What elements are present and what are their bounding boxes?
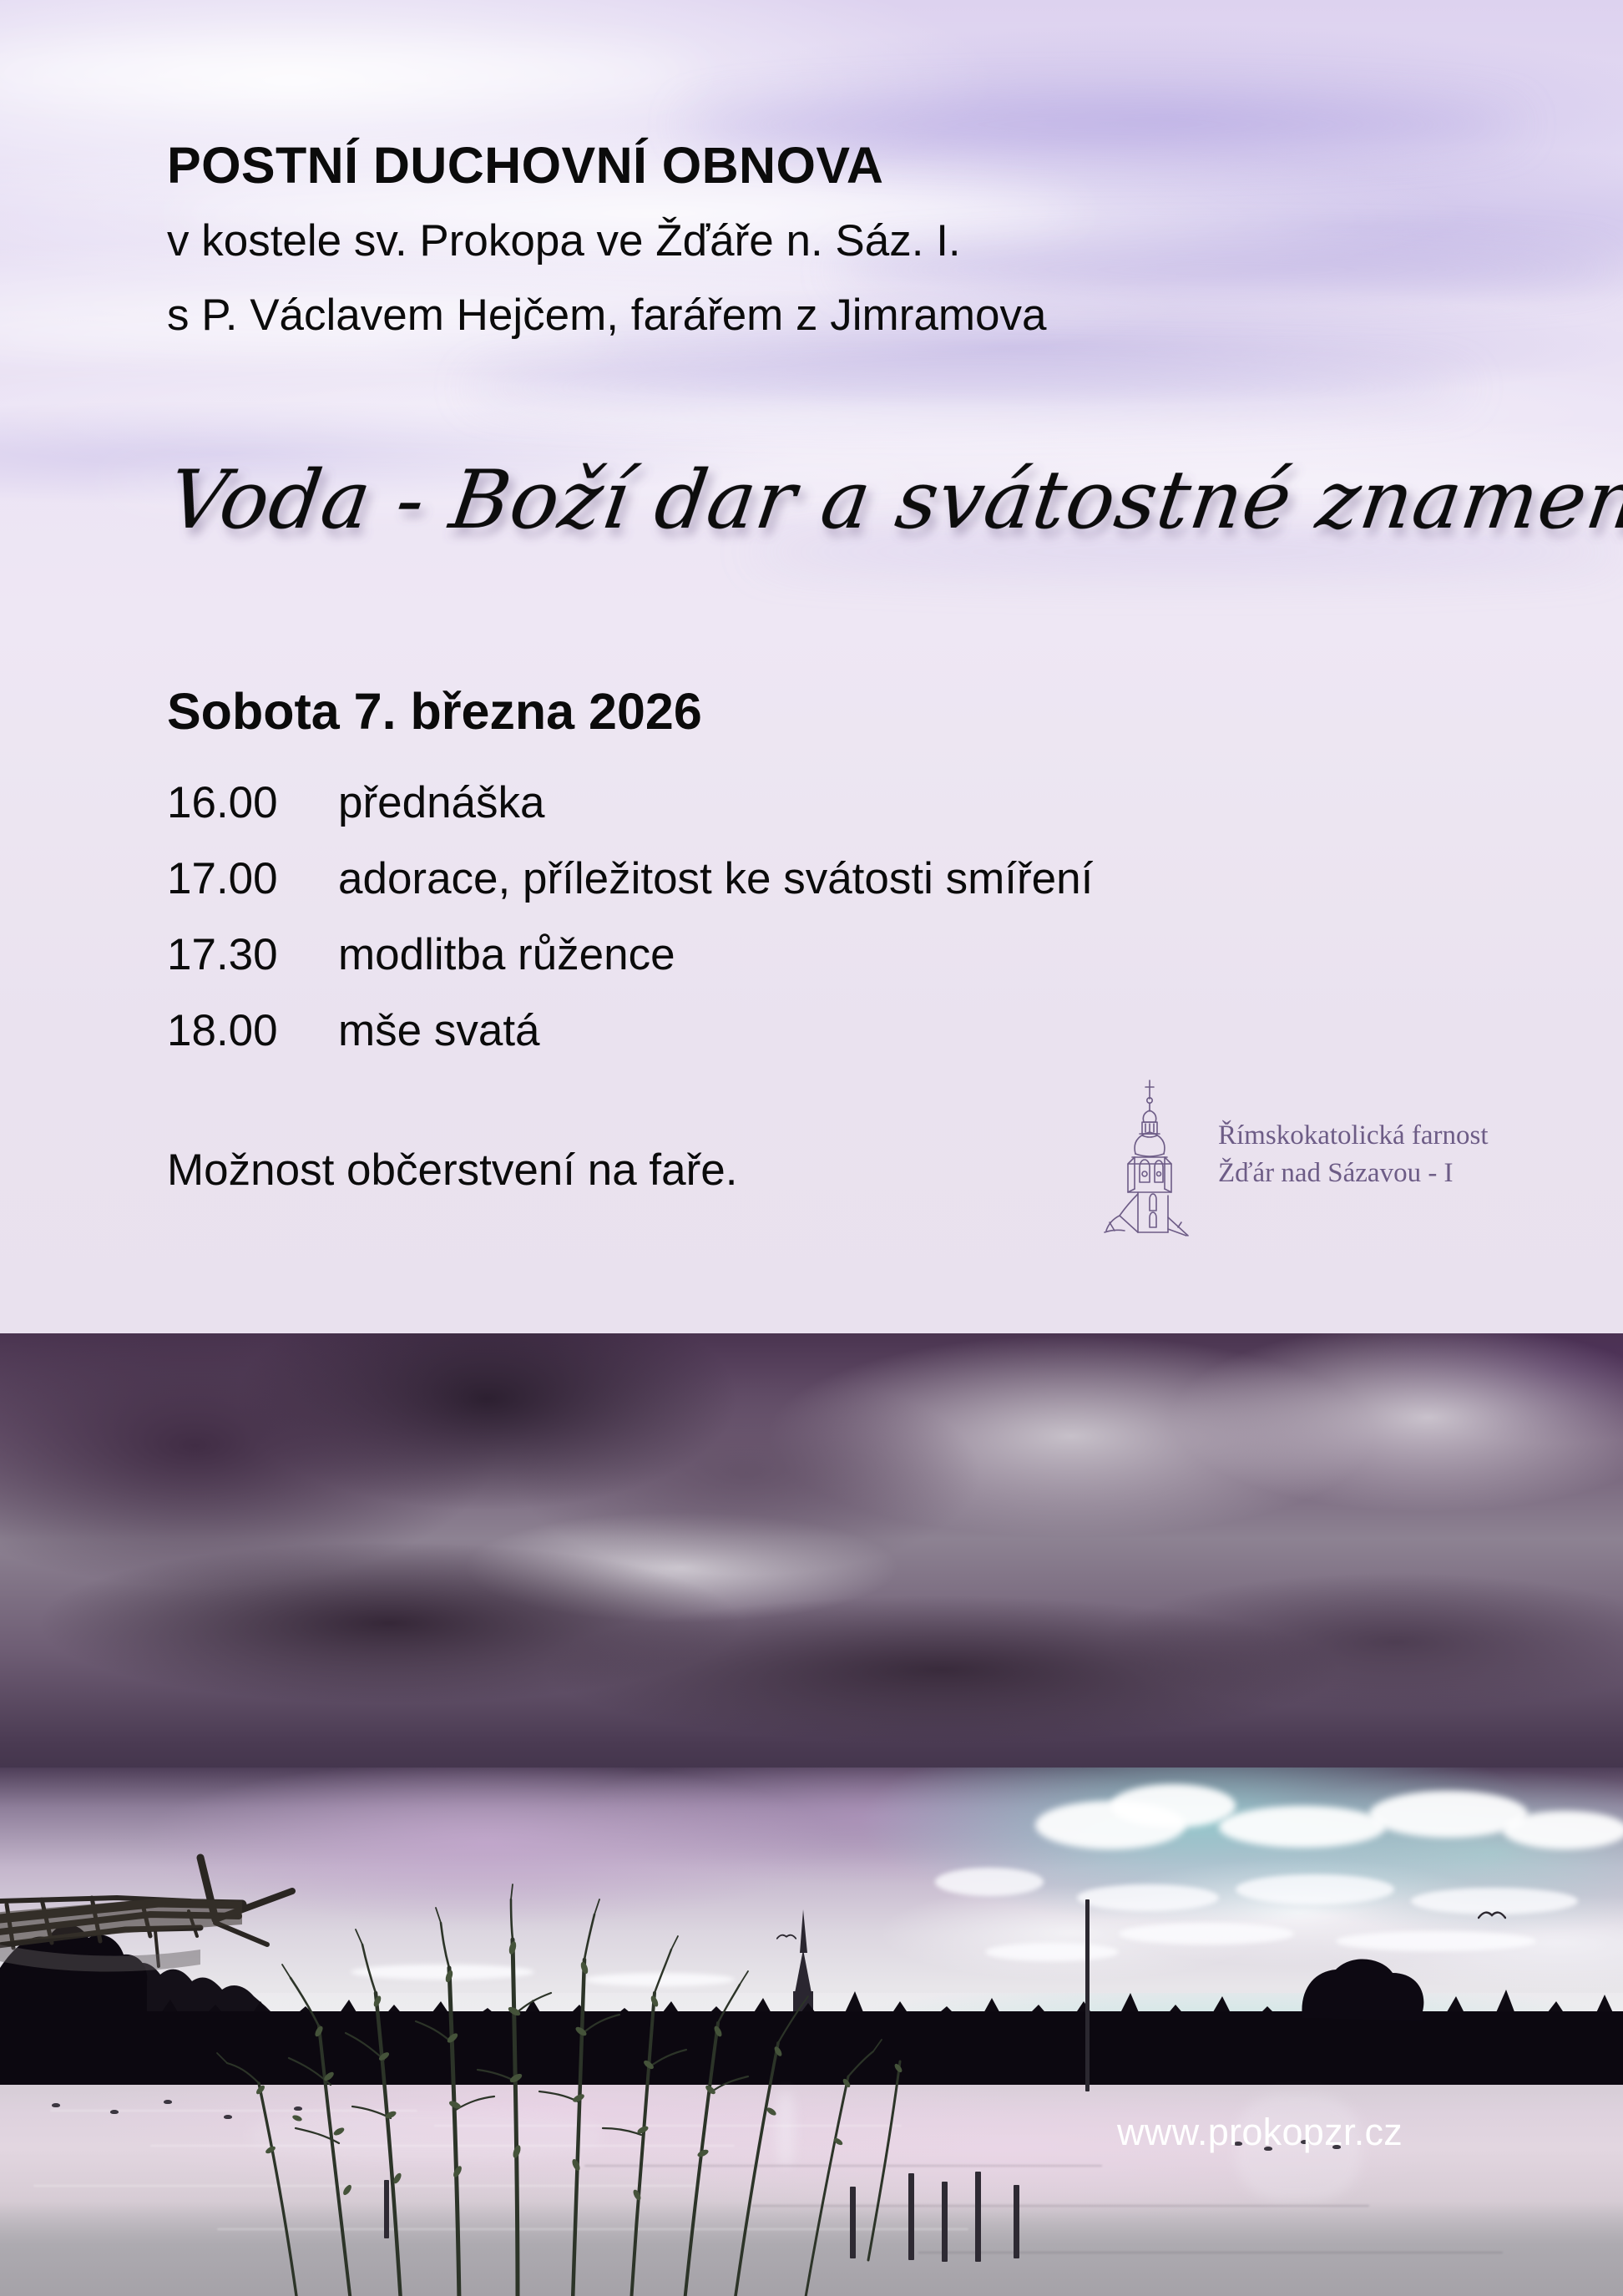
schedule-description: modlitba růžence [338, 933, 1419, 977]
parish-name-line-1: Římskokatolická farnost [1218, 1117, 1489, 1155]
schedule-list: 16.00 přednáška 17.00 adorace, příležito… [167, 781, 1419, 1085]
schedule-row: 16.00 přednáška [167, 781, 1419, 857]
water-post [942, 2182, 948, 2262]
schedule-description: adorace, příležitost ke svátosti smíření [338, 857, 1419, 901]
reed-stem [1085, 1899, 1090, 2091]
schedule-description: přednáška [338, 781, 1419, 825]
cloud-streak [468, 367, 1469, 407]
schedule-time: 18.00 [167, 1009, 338, 1053]
water-ripple [918, 2252, 1503, 2253]
parish-logo-text: Římskokatolická farnost Žďár nad Sázavou… [1218, 1117, 1489, 1191]
schedule-time: 17.30 [167, 933, 338, 977]
cloud-streak [0, 50, 701, 95]
schedule-row: 17.00 adorace, příležitost ke svátosti s… [167, 857, 1419, 933]
water-post [1014, 2185, 1019, 2258]
water-bird [52, 2103, 60, 2107]
schedule-time: 16.00 [167, 781, 338, 825]
script-headline-text: Voda - Boží dar a svátostné znamení [163, 453, 1623, 546]
script-headline: Voda - Boží dar a svátostné znamení [174, 434, 1526, 559]
poster: POSTNÍ DUCHOVNÍ OBNOVA v kostele sv. Pro… [0, 0, 1623, 2296]
willow-branches [100, 1868, 918, 2296]
schedule-row: 17.30 modlitba růžence [167, 933, 1419, 1009]
schedule-description: mše svatá [338, 1009, 1419, 1053]
page-title: POSTNÍ DUCHOVNÍ OBNOVA [167, 140, 883, 191]
refreshments-note: Možnost občerstvení na faře. [167, 1148, 737, 1192]
subtitle-location: v kostele sv. Prokopa ve Žďáře n. Sáz. I… [167, 219, 961, 263]
church-tower-icon [1098, 1074, 1206, 1237]
subtitle-speaker: s P. Václavem Hejčem, farářem z Jimramov… [167, 293, 1046, 337]
parish-logo: Římskokatolická farnost Žďár nad Sázavou… [1098, 1071, 1532, 1238]
water-post [975, 2172, 981, 2262]
website-url: www.prokopzr.cz [1117, 2111, 1403, 2154]
schedule-time: 17.00 [167, 857, 338, 901]
event-date: Sobota 7. března 2026 [167, 686, 702, 737]
parish-name-line-2: Žďár nad Sázavou - I [1218, 1155, 1489, 1192]
